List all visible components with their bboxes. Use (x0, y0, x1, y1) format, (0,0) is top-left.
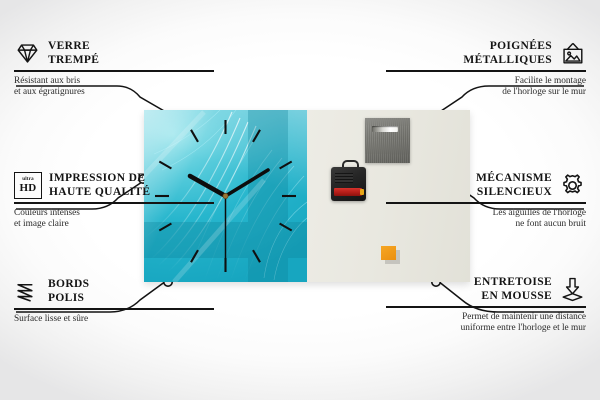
feature-title-line2: SILENCIEUX (476, 186, 552, 200)
polished-edges-icon (14, 278, 41, 305)
feature-desc-line1: Permet de maintenir une distance (386, 312, 586, 323)
ultra-hd-icon-large-text: HD (19, 183, 36, 194)
infographic-canvas: VERRE TREMPÉ Résistant aux bris et aux é… (0, 0, 600, 400)
feature-title-line2: EN MOUSSE (474, 290, 552, 304)
feature-title-line1: POIGNÉES (463, 40, 552, 54)
feature-desc-line2: et image claire (14, 219, 214, 230)
feature-desc-line1: Résistant aux bris (14, 76, 214, 87)
foam-spacer-icon (559, 276, 586, 303)
metal-hanger-plate (365, 118, 410, 163)
feature-desc-line2: et aux égratignures (14, 87, 214, 98)
feature-title-line2: TREMPÉ (48, 54, 99, 68)
movement-body (331, 167, 366, 201)
feature-entretoise-en-mousse: ENTRETOISE EN MOUSSE Permet de maintenir… (386, 276, 586, 334)
feature-title-line1: VERRE (48, 40, 99, 54)
feature-bords-polis: BORDS POLIS Surface lisse et sûre (14, 278, 214, 325)
feature-desc-line1: Couleurs intenses (14, 208, 214, 219)
foam-spacer-part (381, 246, 396, 260)
feature-desc-line1: Surface lisse et sûre (14, 314, 214, 325)
feature-desc-line2: de l'horloge sur le mur (386, 87, 586, 98)
feature-rule (386, 306, 586, 308)
feature-desc-line1: Les aiguilles de l'horloge (386, 208, 586, 219)
feature-verre-trempe: VERRE TREMPÉ Résistant aux bris et aux é… (14, 40, 214, 98)
feature-rule (14, 308, 214, 310)
quartz-movement (331, 165, 366, 201)
feature-desc-line2: uniforme entre l'horloge et le mur (386, 323, 586, 334)
feature-desc-line2: ne font aucun bruit (386, 219, 586, 230)
feature-title-line2: MÉTALLIQUES (463, 54, 552, 68)
feature-desc-line1: Facilite le montage (386, 76, 586, 87)
feature-title-line1: IMPRESSION DE (49, 172, 150, 186)
feature-impression-haute-qualite: ultra HD IMPRESSION DE HAUTE QUALITÉ Cou… (14, 172, 214, 230)
ultra-hd-icon: ultra HD (14, 172, 42, 199)
hanger-slot (372, 126, 398, 132)
feature-title-line1: BORDS (48, 278, 89, 292)
feature-rule (386, 202, 586, 204)
aa-battery (334, 188, 362, 196)
feature-title-line2: POLIS (48, 292, 89, 306)
gear-icon (559, 172, 586, 199)
feature-title-line2: HAUTE QUALITÉ (49, 186, 150, 200)
feature-rule (14, 202, 214, 204)
feature-title-line1: MÉCANISME (476, 172, 552, 186)
feature-title-line1: ENTRETOISE (474, 276, 552, 290)
feature-mecanisme-silencieux: MÉCANISME SILENCIEUX Les aiguilles de l'… (386, 172, 586, 230)
hands-hub (223, 193, 228, 198)
feature-poignees-metalliques: POIGNÉES MÉTALLIQUES Facilite le montage… (386, 40, 586, 98)
wall-hanger-icon (559, 40, 586, 67)
diamond-icon (14, 40, 41, 67)
feature-rule (386, 70, 586, 72)
feature-rule (14, 70, 214, 72)
movement-vent (335, 173, 353, 183)
